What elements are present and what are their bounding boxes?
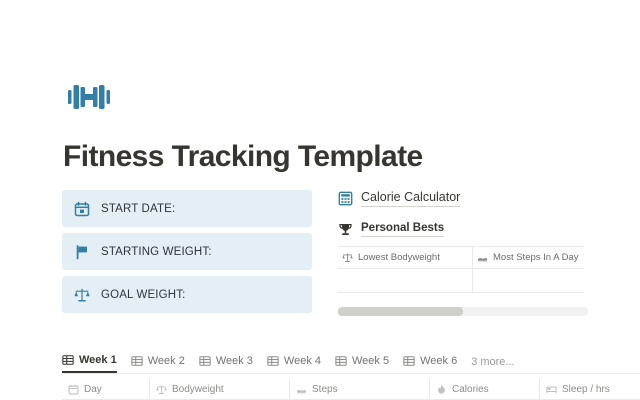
db-column-sleep[interactable]: Sleep / hrs (540, 379, 640, 400)
right-column: Calorie Calculator Personal Bests (338, 190, 588, 293)
scales-icon (156, 384, 167, 395)
cell-most-steps[interactable] (473, 269, 584, 292)
db-column-steps[interactable]: Steps (290, 379, 430, 400)
table-icon (199, 355, 211, 367)
tabs-more-button[interactable]: 3 more... (471, 350, 514, 373)
link-personal-bests[interactable]: Personal Bests (338, 222, 588, 237)
scales-icon (342, 252, 353, 263)
dumbbell-icon (64, 72, 114, 122)
db-column-calories[interactable]: Calories (430, 379, 540, 400)
tab-label: Week 1 (79, 354, 117, 366)
callout-label: GOAL WEIGHT: (101, 289, 185, 301)
db-column-label: Calories (452, 384, 489, 395)
callout-start-date[interactable]: START DATE: (62, 190, 312, 227)
trophy-icon (338, 222, 353, 237)
tab-week-4[interactable]: Week 4 (267, 350, 321, 373)
calendar-icon (74, 201, 90, 217)
page-icon-dumbbell[interactable] (64, 72, 114, 122)
db-column-label: Steps (312, 384, 338, 395)
cell-lowest-bodyweight[interactable] (338, 269, 473, 292)
db-column-bodyweight[interactable]: Bodyweight (150, 379, 290, 400)
table-icon (131, 355, 143, 367)
fire-icon (436, 384, 447, 395)
shoe-icon (477, 252, 488, 263)
left-column: START DATE: STARTING WEIGHT: GOAL WEIGHT… (62, 190, 312, 319)
tab-label: Week 3 (216, 355, 253, 367)
table-icon (403, 355, 415, 367)
callout-label: STARTING WEIGHT: (101, 246, 212, 258)
week-tab-bar: Week 1 Week 2 Week 3 (62, 350, 640, 374)
db-column-label: Day (84, 384, 102, 395)
tab-label: Week 2 (148, 355, 185, 367)
table-header-row: Lowest Bodyweight Most Steps In A Day (338, 247, 584, 269)
link-label: Personal Bests (361, 222, 444, 237)
horizontal-scrollbar[interactable] (338, 307, 588, 316)
calendar-icon (68, 384, 79, 395)
scales-icon (74, 287, 90, 303)
tab-week-2[interactable]: Week 2 (131, 350, 185, 373)
tab-label: Week 6 (420, 355, 457, 367)
callout-label: START DATE: (101, 203, 175, 215)
calculator-icon (338, 191, 353, 206)
link-label: Calorie Calculator (361, 190, 460, 207)
callout-goal-weight[interactable]: GOAL WEIGHT: (62, 276, 312, 313)
callout-starting-weight[interactable]: STARTING WEIGHT: (62, 233, 312, 270)
column-header-most-steps[interactable]: Most Steps In A Day (473, 247, 584, 268)
tab-week-1[interactable]: Week 1 (62, 350, 117, 373)
personal-bests-table: Lowest Bodyweight Most Steps In A Day (338, 246, 584, 293)
link-calorie-calculator[interactable]: Calorie Calculator (338, 190, 588, 207)
page-title: Fitness Tracking Template (63, 140, 423, 175)
tab-label: Week 5 (352, 355, 389, 367)
db-column-day[interactable]: Day (62, 379, 150, 400)
table-icon (62, 354, 74, 366)
tab-label: Week 4 (284, 355, 321, 367)
db-column-label: Bodyweight (172, 384, 224, 395)
table-icon (267, 355, 279, 367)
tab-week-3[interactable]: Week 3 (199, 350, 253, 373)
table-icon (335, 355, 347, 367)
bed-icon (546, 384, 557, 395)
tab-week-6[interactable]: Week 6 (403, 350, 457, 373)
db-column-label: Sleep / hrs (562, 384, 610, 395)
column-header-lowest-bodyweight[interactable]: Lowest Bodyweight (338, 247, 473, 268)
column-header-label: Lowest Bodyweight (358, 252, 440, 263)
table-row[interactable] (338, 269, 584, 293)
database-header-row: Day Bodyweight Steps (62, 379, 640, 400)
shoe-icon (296, 384, 307, 395)
column-header-label: Most Steps In A Day (493, 252, 579, 263)
tab-week-5[interactable]: Week 5 (335, 350, 389, 373)
flag-icon (74, 244, 90, 260)
scrollbar-thumb[interactable] (338, 307, 463, 316)
